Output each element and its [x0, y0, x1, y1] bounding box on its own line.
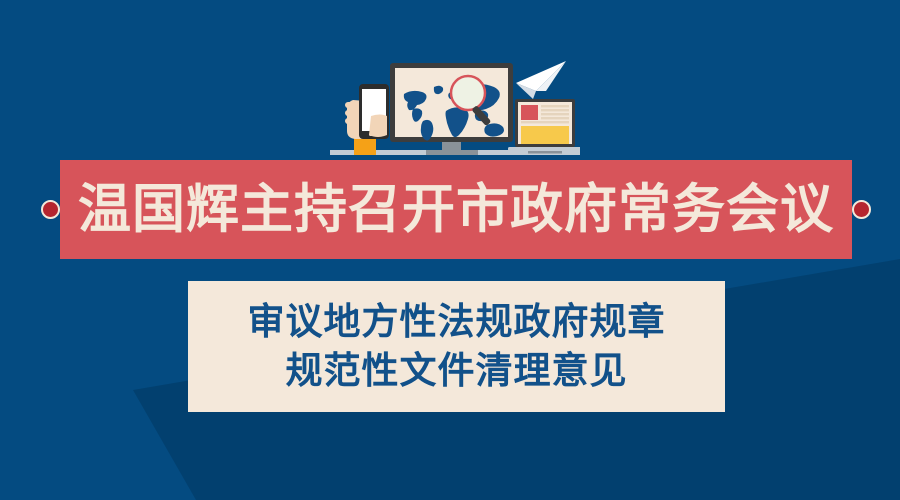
monitor-stand — [442, 142, 461, 151]
doc-highlight-block — [521, 126, 569, 144]
page-title: 温国辉主持召开市政府常务会议 — [78, 183, 834, 236]
subtitle-line-2: 规范性文件清理意见 — [286, 352, 628, 391]
banner-left-dot-icon — [41, 200, 60, 219]
laptop-base — [508, 147, 580, 151]
digital-office-illustration — [330, 55, 580, 163]
paper-plane — [516, 61, 566, 99]
doc-image-block — [521, 105, 538, 120]
poster-canvas: 温国辉主持召开市政府常务会议 审议地方性法规政府规章 规范性文件清理意见 — [0, 0, 900, 500]
title-banner: 温国辉主持召开市政府常务会议 — [60, 160, 852, 259]
subtitle-box: 审议地方性法规政府规章 规范性文件清理意见 — [188, 281, 725, 412]
banner-right-dot-icon — [852, 200, 871, 219]
sleeve — [354, 138, 376, 155]
subtitle-line-1: 审议地方性法规政府规章 — [248, 303, 666, 342]
